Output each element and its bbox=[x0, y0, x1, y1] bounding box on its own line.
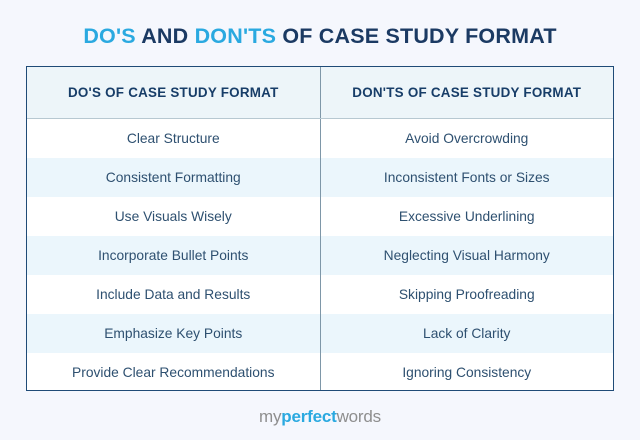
table-row: Include Data and Results Skipping Proofr… bbox=[27, 275, 613, 314]
table-row: Use Visuals Wisely Excessive Underlining bbox=[27, 197, 613, 236]
table-body: Clear Structure Avoid Overcrowding Consi… bbox=[27, 119, 613, 392]
table-row: Provide Clear Recommendations Ignoring C… bbox=[27, 353, 613, 391]
logo-words: words bbox=[337, 407, 381, 426]
cell-dont: Excessive Underlining bbox=[320, 197, 613, 236]
cell-dont: Ignoring Consistency bbox=[320, 353, 613, 391]
cell-do: Consistent Formatting bbox=[27, 158, 320, 197]
cell-do: Emphasize Key Points bbox=[27, 314, 320, 353]
cell-do: Clear Structure bbox=[27, 119, 320, 159]
table-row: Clear Structure Avoid Overcrowding bbox=[27, 119, 613, 159]
title-and: AND bbox=[136, 24, 195, 48]
table-row: Consistent Formatting Inconsistent Fonts… bbox=[27, 158, 613, 197]
cell-do: Provide Clear Recommendations bbox=[27, 353, 320, 391]
cell-dont: Skipping Proofreading bbox=[320, 275, 613, 314]
cell-dont: Avoid Overcrowding bbox=[320, 119, 613, 159]
logo-my: my bbox=[259, 407, 281, 426]
cell-dont: Inconsistent Fonts or Sizes bbox=[320, 158, 613, 197]
title-accent-donts: DON'TS bbox=[195, 24, 277, 48]
logo-perfect: perfect bbox=[281, 407, 336, 426]
column-header-dos: DO'S OF CASE STUDY FORMAT bbox=[27, 67, 320, 119]
comparison-table: DO'S OF CASE STUDY FORMAT DON'TS OF CASE… bbox=[27, 67, 613, 391]
table-head: DO'S OF CASE STUDY FORMAT DON'TS OF CASE… bbox=[27, 67, 613, 119]
comparison-table-container: DO'S OF CASE STUDY FORMAT DON'TS OF CASE… bbox=[26, 66, 614, 391]
title-tail: OF CASE STUDY FORMAT bbox=[276, 24, 557, 48]
table-row: Emphasize Key Points Lack of Clarity bbox=[27, 314, 613, 353]
column-header-donts: DON'TS OF CASE STUDY FORMAT bbox=[320, 67, 613, 119]
cell-do: Use Visuals Wisely bbox=[27, 197, 320, 236]
table-header-row: DO'S OF CASE STUDY FORMAT DON'TS OF CASE… bbox=[27, 67, 613, 119]
brand-logo: myperfectwords bbox=[0, 406, 640, 428]
cell-dont: Neglecting Visual Harmony bbox=[320, 236, 613, 275]
cell-do: Include Data and Results bbox=[27, 275, 320, 314]
title-accent-dos: DO'S bbox=[83, 24, 136, 48]
cell-do: Incorporate Bullet Points bbox=[27, 236, 320, 275]
infographic-page: DO'S AND DON'TS OF CASE STUDY FORMAT DO'… bbox=[0, 0, 640, 440]
page-title: DO'S AND DON'TS OF CASE STUDY FORMAT bbox=[0, 24, 640, 49]
table-row: Incorporate Bullet Points Neglecting Vis… bbox=[27, 236, 613, 275]
cell-dont: Lack of Clarity bbox=[320, 314, 613, 353]
